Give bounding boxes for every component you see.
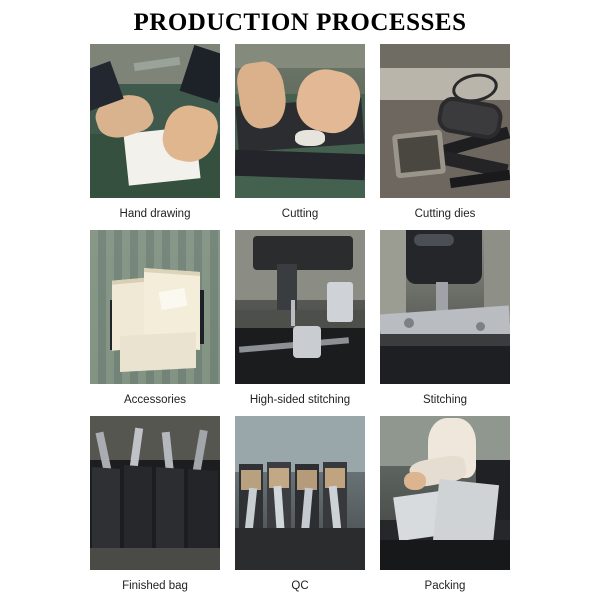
caption-cutting-dies: Cutting dies — [415, 198, 476, 221]
process-item-cutting: Cutting — [235, 44, 365, 230]
caption-finished-bag: Finished bag — [122, 570, 188, 593]
caption-accessories: Accessories — [124, 384, 186, 407]
photo-cutting — [235, 44, 365, 198]
process-item-cutting-dies: Cutting dies — [380, 44, 510, 230]
photo-finished-bag — [90, 416, 220, 570]
caption-stitching: Stitching — [423, 384, 467, 407]
caption-packing: Packing — [425, 570, 466, 593]
caption-high-sided-stitching: High-sided stitching — [250, 384, 350, 407]
photo-cutting-dies — [380, 44, 510, 198]
photo-hand-drawing — [90, 44, 220, 198]
page-title: PRODUCTION PROCESSES — [0, 0, 600, 44]
photo-stitching — [380, 230, 510, 384]
caption-qc: QC — [291, 570, 308, 593]
process-item-finished-bag: Finished bag — [90, 416, 220, 602]
process-item-qc: QC — [235, 416, 365, 602]
process-item-high-sided-stitching: High-sided stitching — [235, 230, 365, 416]
caption-hand-drawing: Hand drawing — [120, 198, 191, 221]
process-item-packing: Packing — [380, 416, 510, 602]
process-item-hand-drawing: Hand drawing — [90, 44, 220, 230]
process-photo-grid: Hand drawing Cutting Cutting dies — [90, 44, 510, 602]
photo-qc — [235, 416, 365, 570]
photo-accessories — [90, 230, 220, 384]
photo-high-sided-stitching — [235, 230, 365, 384]
process-item-accessories: Accessories — [90, 230, 220, 416]
caption-cutting: Cutting — [282, 198, 318, 221]
process-item-stitching: Stitching — [380, 230, 510, 416]
production-processes-page: PRODUCTION PROCESSES Hand drawing Cuttin… — [0, 0, 600, 600]
photo-packing — [380, 416, 510, 570]
